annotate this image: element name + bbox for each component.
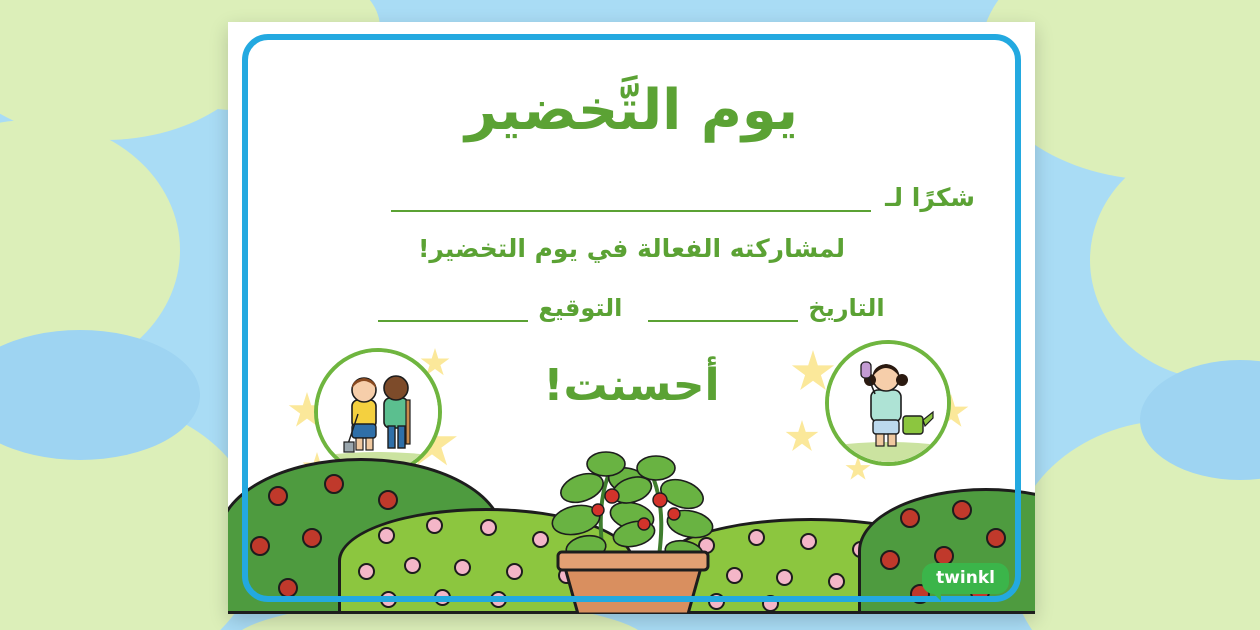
signature-fields: التاريخ التوقيع <box>288 294 975 322</box>
signature-input-line[interactable] <box>378 296 528 322</box>
date-label: التاريخ <box>808 294 884 322</box>
rose-flower <box>986 528 1006 548</box>
twinkl-logo-tail <box>932 592 941 601</box>
potted-tomato-plant-icon <box>508 424 758 614</box>
pink-flower <box>404 557 421 574</box>
certificate-sheet: يوم التَّخضير شكرًا لـ لمشاركته الفعالة … <box>228 22 1035 614</box>
signature-label: التوقيع <box>538 294 622 322</box>
pink-flower <box>380 591 397 608</box>
pink-flower <box>434 589 451 606</box>
rose-flower <box>324 474 344 494</box>
pink-flower <box>480 519 497 536</box>
date-field: التاريخ <box>648 294 884 322</box>
date-input-line[interactable] <box>648 296 798 322</box>
rose-flower <box>278 578 298 598</box>
garden-illustration <box>228 414 1035 614</box>
rose-flower <box>268 486 288 506</box>
pink-flower <box>762 595 779 612</box>
page-title: يوم التَّخضير <box>228 80 1035 142</box>
pink-flower <box>776 569 793 586</box>
thanks-row: شكرًا لـ <box>288 182 975 212</box>
signature-field: التوقيع <box>378 294 622 322</box>
pink-flower <box>426 517 443 534</box>
pink-flower <box>800 533 817 550</box>
pink-flower <box>358 563 375 580</box>
twinkl-logo[interactable]: twinkl <box>922 563 1009 594</box>
twinkl-logo-text: twinkl <box>936 568 995 588</box>
pink-flower <box>490 591 507 608</box>
rose-flower <box>880 550 900 570</box>
pink-flower <box>378 527 395 544</box>
recipient-name-line[interactable] <box>391 182 871 212</box>
pink-flower <box>828 573 845 590</box>
rose-flower <box>900 508 920 528</box>
pink-flower <box>454 559 471 576</box>
rose-flower <box>250 536 270 556</box>
thanks-label: شكرًا لـ <box>885 183 975 212</box>
rose-flower <box>952 500 972 520</box>
rose-flower <box>378 490 398 510</box>
rose-flower <box>302 528 322 548</box>
certificate-subtitle: لمشاركته الفعالة في يوم التخضير! <box>228 234 1035 263</box>
